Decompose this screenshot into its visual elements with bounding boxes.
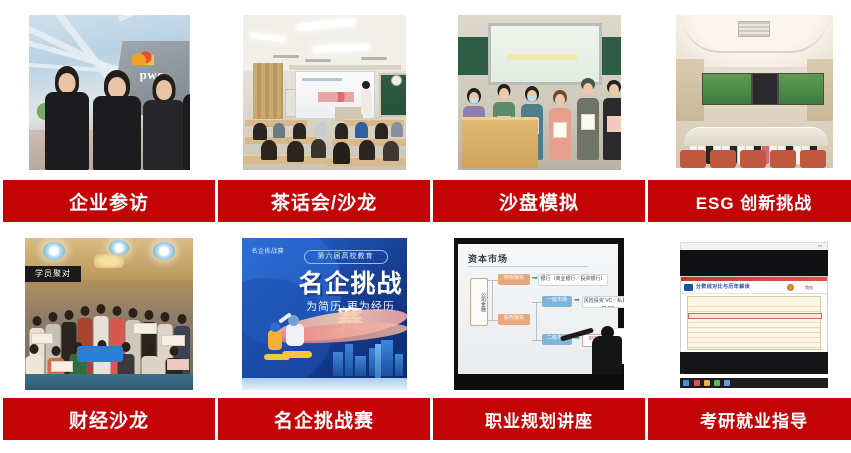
skater-body xyxy=(268,330,282,350)
photo-cell-1[interactable]: pwc xyxy=(3,15,215,170)
placard xyxy=(133,323,157,334)
connector xyxy=(532,340,542,341)
taskbar[interactable] xyxy=(680,378,828,388)
slide-node: 股权融资 xyxy=(498,314,530,325)
slide-diagram xyxy=(318,92,354,102)
app-icon[interactable] xyxy=(724,380,730,386)
torso xyxy=(183,94,190,170)
pwc-logo-mark-icon xyxy=(132,51,154,65)
main-placard xyxy=(77,346,123,362)
conference-table xyxy=(684,127,828,146)
table-row xyxy=(688,319,820,323)
student xyxy=(273,123,285,138)
student xyxy=(355,122,368,138)
certificate xyxy=(553,122,567,138)
person xyxy=(181,66,190,170)
status-line: • xyxy=(682,371,683,376)
table-row xyxy=(688,344,820,348)
person xyxy=(602,80,621,160)
skater-head xyxy=(270,322,280,332)
torso xyxy=(45,92,89,170)
photo-enterprise-challenge-poster[interactable]: 名企挑战赛 第六届高校教育 名企挑战赛 为简历·更为经历 xyxy=(242,238,407,390)
poster-ground xyxy=(242,378,407,390)
head xyxy=(362,81,370,89)
photo-finance-salon[interactable]: 学员聚对 xyxy=(25,238,193,390)
front-desk xyxy=(454,374,624,390)
table-row xyxy=(688,334,820,338)
caption-text: ESG 创新挑战 xyxy=(696,189,813,214)
photo-cell-7[interactable]: 资本市场 公司金融 债权融资 股权融资 一级市场 二级市场 银行（商业银行／投资… xyxy=(433,238,645,390)
desk-rows xyxy=(243,108,406,170)
podium xyxy=(462,117,538,168)
face xyxy=(609,84,619,96)
video-area xyxy=(680,250,828,276)
chair xyxy=(740,150,766,168)
slide-node: 一级市场 xyxy=(542,296,572,307)
arrow-icon: ➡ xyxy=(574,296,580,304)
face-mask xyxy=(527,96,536,101)
photo-tea-salon[interactable] xyxy=(243,15,406,170)
photo-sandbox-simulation[interactable] xyxy=(458,15,621,170)
photo-postgrad-guidance[interactable]: ••• 分数线对比与历年解读 院校 xyxy=(674,238,834,390)
skateboard xyxy=(282,351,312,358)
caption-esg-challenge[interactable]: ESG 创新挑战 xyxy=(648,180,851,222)
stage-light xyxy=(153,242,175,260)
placard xyxy=(51,361,73,372)
caption-postgrad-guidance[interactable]: 考研就业指导 xyxy=(648,398,851,440)
student xyxy=(375,123,388,139)
connector xyxy=(488,280,498,281)
shared-window: 分数线对比与历年解读 院校 xyxy=(680,276,828,354)
student xyxy=(315,122,327,137)
student xyxy=(359,140,375,160)
wall-clock-icon xyxy=(391,75,402,86)
person xyxy=(576,78,600,160)
caption-sandbox-simulation[interactable]: 沙盘模拟 xyxy=(433,180,645,222)
caption-text: 职业规划讲座 xyxy=(485,407,593,432)
table-row xyxy=(688,308,820,312)
table-row xyxy=(688,339,820,343)
table-row xyxy=(688,324,820,328)
caption-text: 沙盘模拟 xyxy=(499,188,579,215)
chair xyxy=(710,150,736,168)
spotlight xyxy=(802,41,805,47)
document-header: 分数线对比与历年解读 院校 xyxy=(681,281,827,294)
institution-logo: 院校 xyxy=(805,283,813,292)
caption-career-lecture[interactable]: 职业规划讲座 xyxy=(433,398,645,440)
photo-career-lecture[interactable]: 资本市场 公司金融 债权融资 股权融资 一级市场 二级市场 银行（商业银行／投资… xyxy=(454,238,624,390)
caption-enterprise-visit[interactable]: 企业参访 xyxy=(3,180,215,222)
badge-icon xyxy=(684,284,693,291)
floor xyxy=(25,374,193,390)
slide-node: 债权融资 xyxy=(498,274,530,285)
caption-enterprise-challenge[interactable]: 名企挑战赛 xyxy=(218,398,430,440)
app-icon[interactable] xyxy=(694,380,700,386)
poster-badge: 第六届高校教育 xyxy=(304,250,388,264)
connector xyxy=(492,280,493,320)
student xyxy=(333,142,350,164)
slide-title-line xyxy=(302,78,342,81)
face xyxy=(156,80,172,100)
air-vent-icon xyxy=(738,21,770,37)
caption-text: 财经沙龙 xyxy=(69,406,149,433)
student xyxy=(293,123,306,139)
face xyxy=(108,77,126,98)
photo-enterprise-visit[interactable]: pwc xyxy=(29,15,190,170)
seal-icon xyxy=(787,284,794,291)
face xyxy=(583,83,593,95)
student xyxy=(383,141,399,161)
slide-node: 风险投资 VC／私募股权 PE xyxy=(582,296,624,308)
photo-esg-challenge[interactable] xyxy=(676,15,833,168)
student xyxy=(391,122,403,137)
slide-title: 资本市场 xyxy=(468,252,508,265)
torso xyxy=(143,100,185,170)
building xyxy=(333,352,343,376)
caption-text: 考研就业指导 xyxy=(700,407,808,432)
person xyxy=(548,90,572,160)
building xyxy=(381,340,393,376)
caption-row-1: 企业参访 茶话会/沙龙 沙盘模拟 ESG 创新挑战 xyxy=(0,180,851,222)
photo-wall: pwc xyxy=(0,0,851,453)
poster-badge-text: 第六届高校教育 xyxy=(305,251,387,263)
caption-text: 茶话会/沙龙 xyxy=(271,188,377,215)
skater-illustration xyxy=(264,312,324,372)
poster-logo: 名企挑战赛 xyxy=(252,246,285,255)
photo-cell-3[interactable] xyxy=(433,15,645,170)
stage-light xyxy=(43,242,65,260)
city-skyline xyxy=(333,328,403,376)
table-row xyxy=(688,303,820,307)
torso xyxy=(93,96,141,170)
student xyxy=(311,139,326,158)
student xyxy=(253,123,267,140)
student xyxy=(287,141,304,162)
photo-cell-6[interactable]: 名企挑战赛 第六届高校教育 名企挑战赛 为简历·更为经历 xyxy=(218,238,430,390)
connector xyxy=(488,320,498,321)
top-spacer xyxy=(0,0,851,15)
certificate xyxy=(581,114,595,130)
slide-node: 银行（商业银行／投资银行） xyxy=(538,274,608,286)
photo-cell-2[interactable] xyxy=(218,15,430,170)
building xyxy=(345,344,353,376)
spotlight xyxy=(774,37,777,43)
arrow-icon: ➡ xyxy=(532,274,538,282)
table-row xyxy=(688,329,820,333)
skater-body xyxy=(286,324,304,346)
ceiling-fan-icon xyxy=(361,57,387,60)
connector xyxy=(532,302,542,303)
face xyxy=(499,88,509,100)
person xyxy=(43,66,91,170)
wall-beam xyxy=(289,65,401,70)
student xyxy=(261,140,277,160)
student xyxy=(335,123,348,139)
person xyxy=(91,68,143,170)
document-title: 分数线对比与历年解读 xyxy=(696,283,750,292)
connector xyxy=(536,320,537,340)
chair-row xyxy=(680,146,832,168)
building xyxy=(395,354,403,376)
caption-text: 名企挑战赛 xyxy=(274,406,374,433)
spotlight xyxy=(728,37,731,43)
row-spacer xyxy=(0,222,851,238)
placard xyxy=(31,333,53,344)
chair xyxy=(770,150,796,168)
app-icon[interactable] xyxy=(704,380,710,386)
caption-text: 企业参访 xyxy=(69,188,149,215)
chair xyxy=(680,150,706,168)
photo-cell-4[interactable] xyxy=(648,15,851,170)
start-icon[interactable] xyxy=(683,380,689,386)
slide-underline xyxy=(468,266,588,267)
spotlight xyxy=(700,41,703,47)
face xyxy=(555,94,565,106)
ceiling-fan-icon xyxy=(273,55,299,58)
ceiling-fan-icon xyxy=(305,59,331,62)
slide-node-root: 公司金融 xyxy=(470,278,488,326)
caption-tea-salon[interactable]: 茶话会/沙龙 xyxy=(218,180,430,222)
face xyxy=(58,73,75,93)
photo-cell-8[interactable]: ••• 分数线对比与历年解读 院校 xyxy=(648,238,851,390)
data-table xyxy=(687,296,821,350)
caption-finance-salon[interactable]: 财经沙龙 xyxy=(3,398,215,440)
building xyxy=(355,356,366,376)
chair xyxy=(800,150,826,168)
caption-row-2: 财经沙龙 名企挑战赛 职业规划讲座 考研就业指导 xyxy=(0,398,851,440)
placard xyxy=(167,359,189,370)
chandelier xyxy=(94,254,124,268)
photo-row-2: 学员聚对 xyxy=(0,238,851,390)
photo-row-1: pwc xyxy=(0,15,851,170)
certificate xyxy=(607,116,621,132)
app-icon[interactable] xyxy=(714,380,720,386)
photo-cell-5[interactable]: 学员聚对 xyxy=(3,238,215,390)
face-mask xyxy=(469,98,478,103)
screen-bottom-dark xyxy=(680,352,828,374)
slide-highlight xyxy=(507,54,577,60)
toolbar-text: ••• xyxy=(818,242,822,250)
placard xyxy=(161,335,185,346)
